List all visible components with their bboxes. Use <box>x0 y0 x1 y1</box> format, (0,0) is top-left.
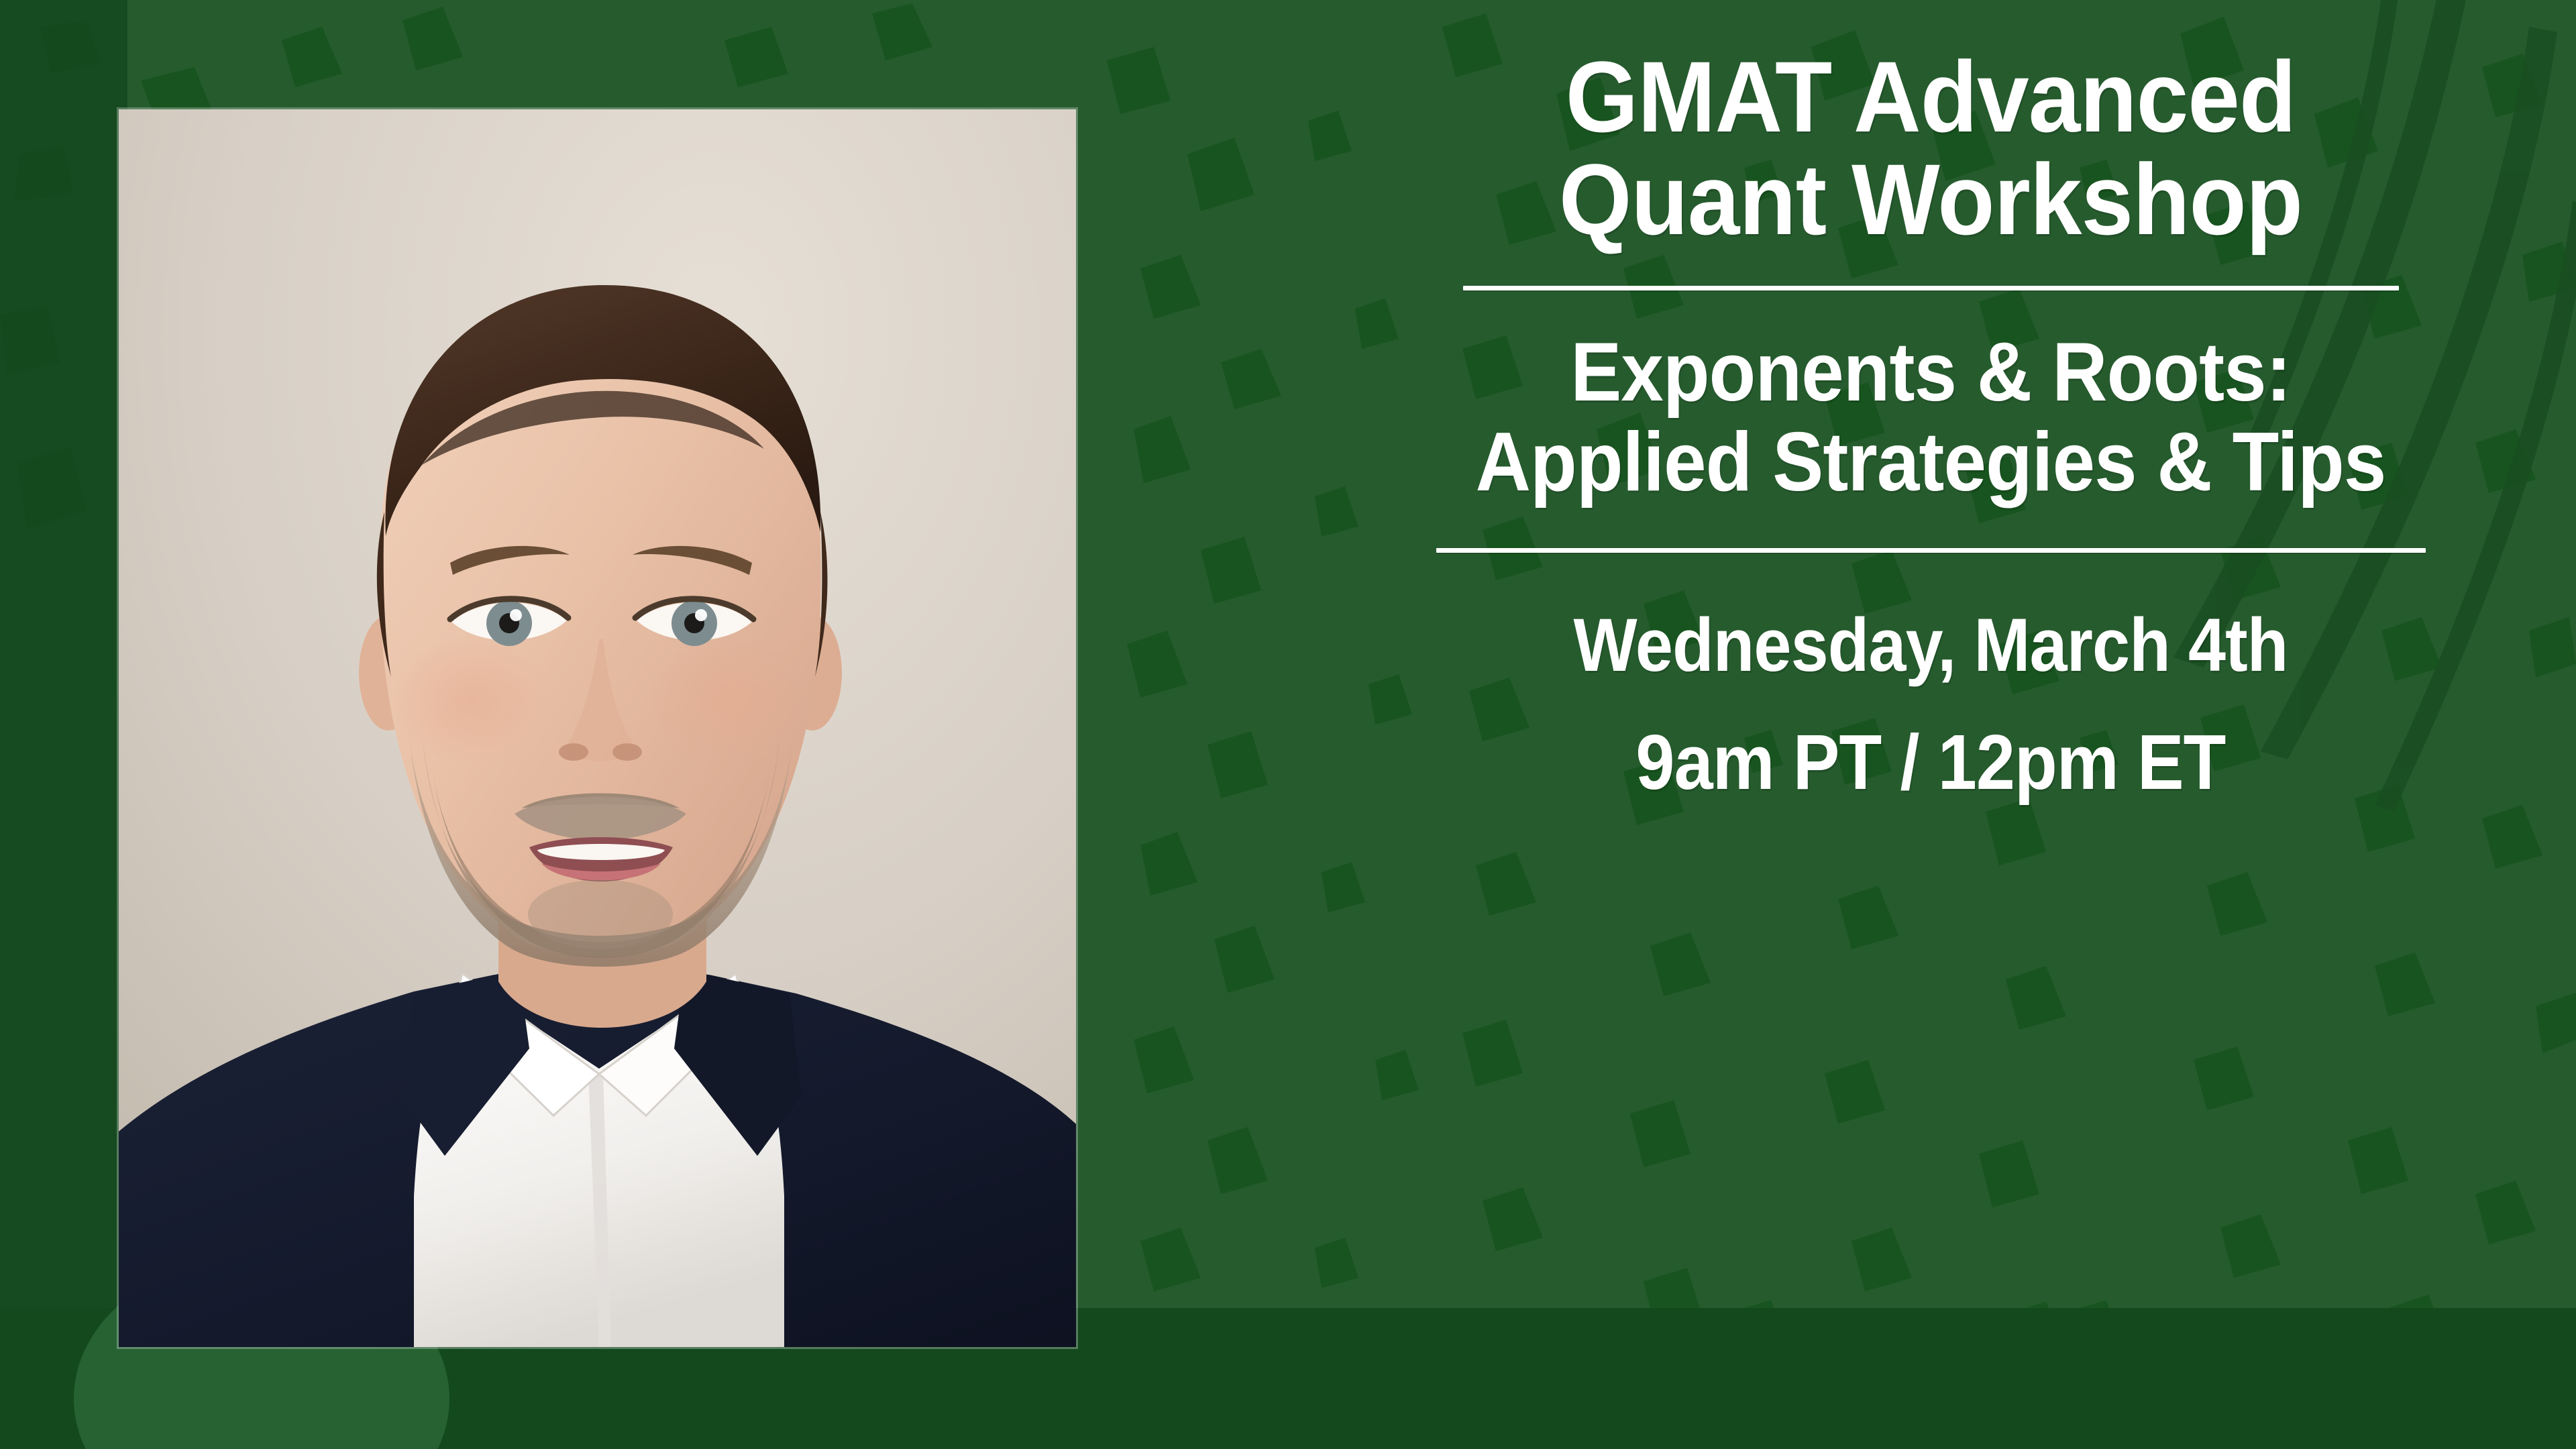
promo-graphic: GMAT Advanced Quant Workshop Exponents &… <box>0 0 2576 1449</box>
workshop-subtitle: Exponents & Roots: Applied Strategies & … <box>1421 328 2440 508</box>
presenter-portrait-illustration <box>119 109 1076 1347</box>
promo-text-column: GMAT Advanced Quant Workshop Exponents &… <box>1421 40 2440 1409</box>
divider-bottom <box>1436 548 2426 553</box>
title-line-1: GMAT Advanced <box>1456 46 2405 148</box>
title-line-2: Quant Workshop <box>1456 148 2405 251</box>
workshop-title: GMAT Advanced Quant Workshop <box>1421 46 2440 251</box>
divider-top <box>1463 286 2399 290</box>
presenter-headshot-photo <box>119 109 1076 1347</box>
subtitle-line-1: Exponents & Roots: <box>1462 328 2400 418</box>
schedule-date: Wednesday, March 4th <box>1472 601 2390 690</box>
workshop-schedule: Wednesday, March 4th 9am PT / 12pm ET <box>1421 601 2440 808</box>
left-edge-band <box>0 0 127 1449</box>
subtitle-line-2: Applied Strategies & Tips <box>1462 418 2400 508</box>
schedule-time: 9am PT / 12pm ET <box>1472 716 2390 808</box>
